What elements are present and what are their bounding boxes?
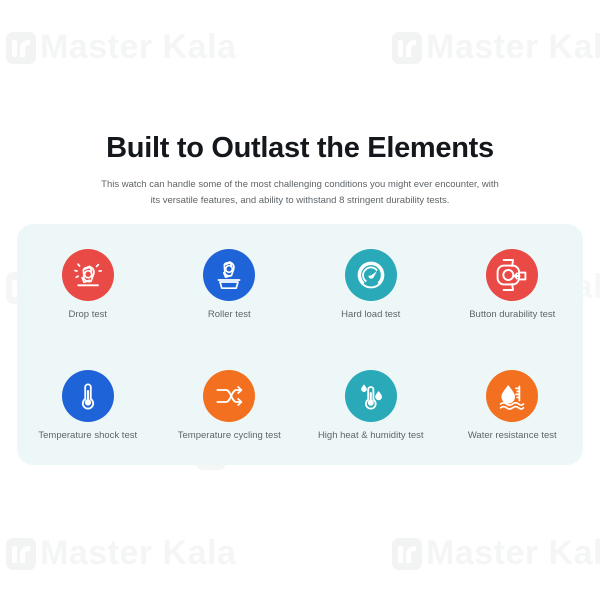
test-label: Hard load test	[341, 310, 400, 320]
test-label: High heat & humidity test	[318, 431, 424, 441]
page-subtitle: This watch can handle some of the most c…	[100, 177, 500, 208]
test-icon-badge	[345, 370, 397, 422]
test-icon-badge	[486, 370, 538, 422]
test-item-button-durability-test[interactable]: Button durability test	[442, 249, 584, 320]
test-icon-badge	[345, 249, 397, 301]
test-item-drop-test[interactable]: Drop test	[17, 249, 159, 320]
watch-drop-icon	[71, 258, 105, 292]
water-droplet-ruler-icon	[495, 379, 529, 413]
test-label: Temperature cycling test	[178, 431, 281, 441]
heading-block: Built to Outlast the Elements This watch…	[0, 132, 600, 209]
test-item-roller-test[interactable]: Roller test	[159, 249, 301, 320]
test-icon-badge	[62, 249, 114, 301]
test-icon-badge-wrap[interactable]: Temperature cycling test	[159, 370, 301, 441]
gauge-dial-icon	[354, 258, 388, 292]
watch-roller-drum-icon	[212, 258, 246, 292]
test-item-high-heat-humidity-test[interactable]: High heat & humidity test	[300, 370, 442, 441]
test-label: Temperature shock test	[38, 431, 137, 441]
watermark-text: Master Kala	[40, 534, 236, 573]
test-icon-badge	[486, 249, 538, 301]
test-label: Water resistance test	[468, 431, 557, 441]
test-label: Roller test	[208, 310, 251, 320]
test-icon-badge	[203, 249, 255, 301]
master-kala-logo-mark-icon	[392, 538, 422, 570]
thermometer-icon	[71, 379, 105, 413]
watermark-text: Master Kala	[40, 28, 236, 67]
master-kala-logo-mark-icon	[6, 538, 36, 570]
test-label: Button durability test	[469, 310, 555, 320]
watermark: Master Kala	[6, 534, 236, 573]
watermark: Master Kala	[6, 28, 236, 67]
page-title: Built to Outlast the Elements	[0, 132, 600, 165]
test-icon-badge	[203, 370, 255, 422]
watermark: Master Kala	[392, 534, 600, 573]
watch-button-press-icon	[493, 256, 531, 294]
watermark-text: Master Kala	[426, 28, 600, 67]
master-kala-logo-mark-icon	[392, 32, 422, 64]
durability-tests-grid: Drop test Roller test	[17, 224, 583, 465]
watermark: Master Kala	[392, 28, 600, 67]
test-label: Drop test	[68, 310, 107, 320]
test-item-hard-load-test[interactable]: Hard load test	[300, 249, 442, 320]
test-icon-badge	[62, 370, 114, 422]
test-item-temperature-shock-test[interactable]: Temperature shock test	[17, 370, 159, 441]
thermometer-droplet-icon	[354, 379, 388, 413]
master-kala-logo-mark-icon	[6, 32, 36, 64]
test-item-water-resistance-test[interactable]: Water resistance test	[442, 370, 584, 441]
watermark-text: Master Kala	[426, 534, 600, 573]
cycling-arrows-icon	[212, 379, 246, 413]
